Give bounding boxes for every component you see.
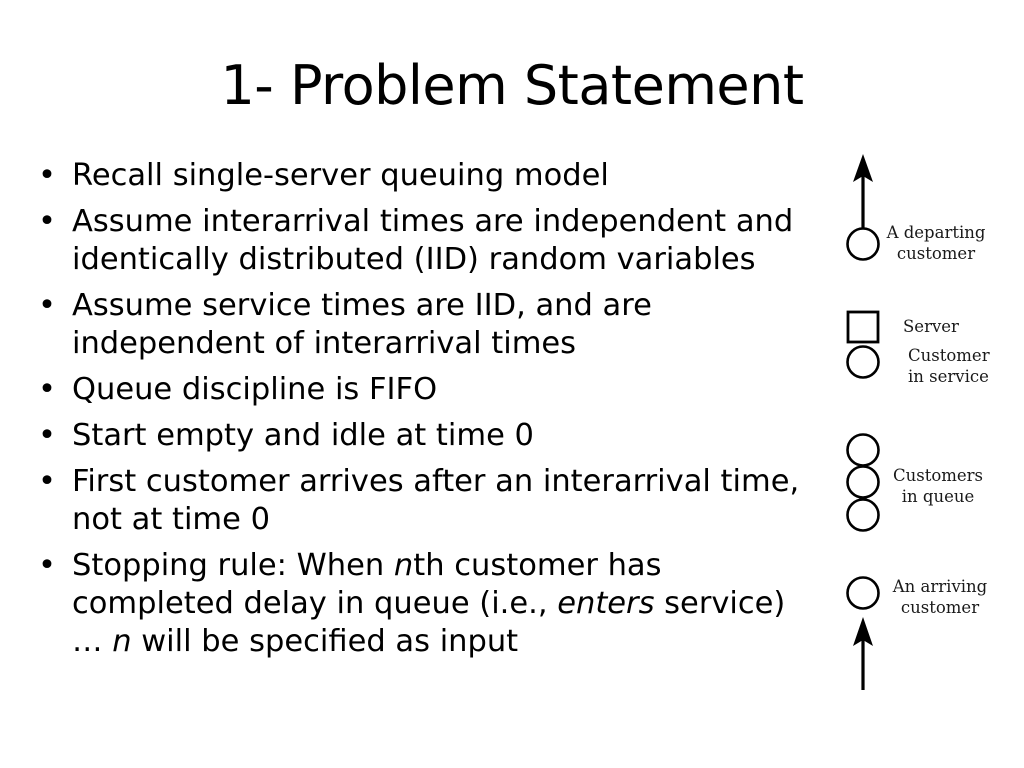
list-item-text: Recall single-server queuing model [72, 157, 825, 195]
arriving-customer-circle-icon [848, 578, 879, 609]
departing-label-line-2: customer [897, 244, 975, 263]
list-item-text: Assume service times are IID, and are in… [72, 287, 825, 363]
list-item: • First customer arrives after an intera… [30, 463, 825, 539]
arriving-arrow-icon [853, 617, 873, 690]
bullet-marker-icon: • [38, 203, 58, 241]
bullet-marker-icon: • [38, 287, 58, 325]
queue-customer-circle-icon [848, 435, 879, 466]
bullet-list: • Recall single-server queuing model • A… [30, 157, 825, 661]
customer-in-service-label-line-2: in service [908, 367, 989, 386]
customers-in-queue-label-line-2: in queue [902, 487, 975, 506]
list-item: • Stopping rule: When nth customer has c… [30, 547, 825, 661]
server-label: Server [903, 317, 959, 336]
list-item-text: Start empty and idle at time 0 [72, 417, 825, 455]
list-item-text: Assume interarrival times are independen… [72, 203, 825, 279]
departing-arrow-icon [853, 154, 873, 228]
list-item-text: Stopping rule: When nth customer has com… [72, 547, 825, 661]
slide-canvas: 1- Problem Statement • Recall single-ser… [0, 0, 1024, 768]
list-item: • Recall single-server queuing model [30, 157, 825, 195]
arriving-label-line-1: An arriving [892, 577, 988, 596]
bullet-marker-icon: • [38, 157, 58, 195]
bullet-marker-icon: • [38, 417, 58, 455]
list-item: • Queue discipline is FIFO [30, 371, 825, 409]
queue-customer-circle-icon [848, 500, 879, 531]
list-item: • Assume interarrival times are independ… [30, 203, 825, 279]
customer-in-service-circle-icon [848, 347, 879, 378]
arriving-label-line-2: customer [901, 598, 979, 617]
bullet-marker-icon: • [38, 547, 58, 585]
customer-in-service-label-line-1: Customer [908, 346, 990, 365]
bullet-marker-icon: • [38, 463, 58, 501]
single-server-queue-diagram: A departing customer Server Customer in … [830, 140, 1024, 710]
departing-label-line-1: A departing [886, 223, 986, 242]
departing-customer-circle-icon [848, 229, 879, 260]
server-square-icon [848, 312, 878, 342]
queue-customer-circle-icon [848, 467, 879, 498]
bullet-marker-icon: • [38, 371, 58, 409]
list-item-text: First customer arrives after an interarr… [72, 463, 825, 539]
page-title: 1- Problem Statement [0, 58, 1024, 115]
list-item: • Start empty and idle at time 0 [30, 417, 825, 455]
list-item: • Assume service times are IID, and are … [30, 287, 825, 363]
list-item-text: Queue discipline is FIFO [72, 371, 825, 409]
customers-in-queue-label-line-1: Customers [893, 466, 983, 485]
